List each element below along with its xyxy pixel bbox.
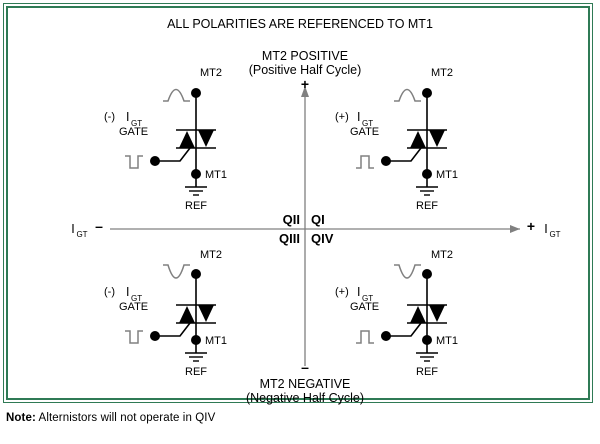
gate-label-q4: GATE: [350, 301, 379, 313]
polarity-prefix-q1: (+): [335, 111, 349, 123]
circuit-quadrant-3: MT2 MT1 REF (-) I GT GATE: [104, 249, 227, 378]
quadrant-label-q3: QIII: [279, 231, 300, 246]
ref-label-q1: REF: [416, 200, 438, 212]
mt1-terminal-label-q1: MT1: [436, 169, 458, 181]
mt2-negative-label: MT2 NEGATIVE: [260, 377, 351, 391]
quadrant-label-q4: QIV: [311, 231, 334, 246]
negative-sign-bottom: –: [301, 359, 309, 375]
left-axis-current-label: I: [71, 222, 74, 236]
right-axis-current-label: I: [544, 222, 547, 236]
polarity-prefix-q2: (-): [104, 111, 115, 123]
left-axis-current-subscript: GT: [76, 230, 87, 239]
circuit-quadrant-1: MT2 MT1 REF (+) I GT GATE: [335, 67, 458, 212]
gate-current-label-q2: I: [126, 110, 129, 124]
gate-label-q3: GATE: [119, 301, 148, 313]
polarity-prefix-q4: (+): [335, 286, 349, 298]
quadrant-label-q1: QI: [311, 212, 325, 227]
footer-note-text: Alternistors will not operate in QIV: [36, 412, 215, 424]
mt2-terminal-label-q4: MT2: [431, 249, 453, 261]
positive-half-cycle-label: (Positive Half Cycle): [249, 63, 362, 77]
gate-current-label-q4: I: [357, 285, 360, 299]
mt1-terminal-label-q4: MT1: [436, 335, 458, 347]
mt1-terminal-label-q3: MT1: [205, 335, 227, 347]
mt2-terminal-label-q1: MT2: [431, 67, 453, 79]
gate-node-dot-q4: [381, 331, 391, 341]
mt2-waveform-q1-icon: [394, 90, 421, 102]
left-axis-negative-sign: –: [95, 218, 103, 234]
triac-left-triangle-q2: [179, 131, 195, 148]
right-axis-positive-sign: +: [527, 218, 535, 234]
gate-node-dot-q2: [150, 156, 160, 166]
triac-right-triangle-q1: [429, 130, 445, 147]
gate-wire-q1: [386, 148, 421, 161]
gate-current-label-q1: I: [357, 110, 360, 124]
mt2-terminal-label-q2: MT2: [200, 67, 222, 79]
positive-sign-top: +: [301, 76, 309, 92]
polarity-prefix-q3: (-): [104, 286, 115, 298]
gate-wire-q3: [155, 323, 190, 336]
horizontal-axis-arrow-icon: [510, 225, 520, 233]
gate-node-dot-q3: [150, 331, 160, 341]
page-title: ALL POLARITIES ARE REFERENCED TO MT1: [167, 17, 433, 31]
right-axis-current-subscript: GT: [549, 230, 560, 239]
mt2-terminal-label-q3: MT2: [200, 249, 222, 261]
circuit-quadrant-2: MT2 MT1 REF (-) I GT GATE: [104, 67, 227, 212]
gate-node-dot-q1: [381, 156, 391, 166]
ref-label-q2: REF: [185, 200, 207, 212]
gate-pulse-waveform-q2-icon: [125, 156, 143, 168]
triac-left-triangle-q4: [410, 306, 426, 323]
triac-left-triangle-q1: [410, 131, 426, 148]
mt2-waveform-q2-icon: [163, 90, 190, 102]
circuit-quadrant-4: MT2 MT1 REF (+) I GT GATE: [335, 249, 458, 378]
footer-note: Note: Alternistors will not operate in Q…: [6, 412, 215, 424]
triac-right-triangle-q4: [429, 305, 445, 322]
gate-wire-q4: [386, 323, 421, 336]
triac-right-triangle-q2: [198, 130, 214, 147]
gate-label-q1: GATE: [350, 126, 379, 138]
triac-right-triangle-q3: [198, 305, 214, 322]
gate-label-q2: GATE: [119, 126, 148, 138]
gate-wire-q2: [155, 148, 190, 161]
mt1-terminal-label-q2: MT1: [205, 169, 227, 181]
ref-label-q3: REF: [185, 366, 207, 378]
triac-quadrant-diagram: ALL POLARITIES ARE REFERENCED TO MT1 MT2…: [0, 0, 600, 444]
mt2-waveform-q3-icon: [163, 265, 190, 278]
negative-half-cycle-label: (Negative Half Cycle): [246, 391, 364, 405]
ref-label-q4: REF: [416, 366, 438, 378]
mt2-waveform-q4-icon: [394, 265, 421, 278]
gate-pulse-waveform-q1-icon: [356, 156, 374, 168]
gate-pulse-waveform-q3-icon: [125, 331, 143, 343]
mt2-positive-label: MT2 POSITIVE: [262, 49, 348, 63]
triac-left-triangle-q3: [179, 306, 195, 323]
footer-note-prefix: Note:: [6, 412, 36, 424]
gate-pulse-waveform-q4-icon: [356, 331, 374, 343]
quadrant-label-q2: QII: [283, 212, 300, 227]
diagram-root: ALL POLARITIES ARE REFERENCED TO MT1 MT2…: [0, 0, 600, 444]
gate-current-label-q3: I: [126, 285, 129, 299]
